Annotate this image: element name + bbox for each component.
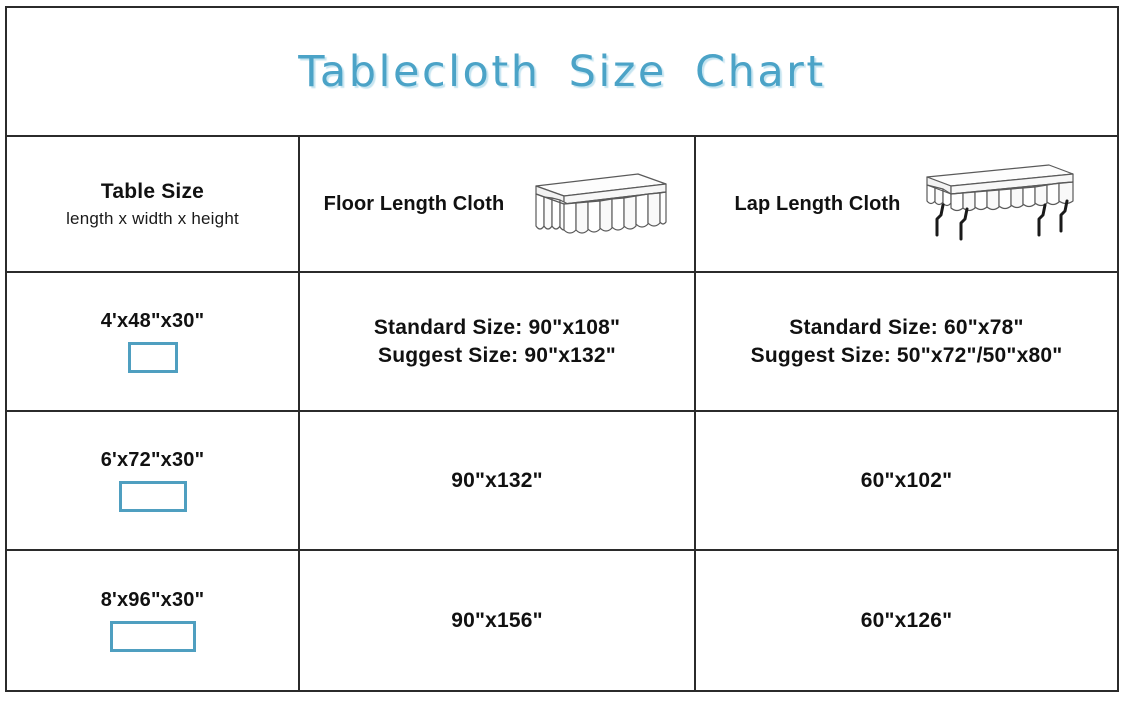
lap-suggest-size: Suggest Size: 50"x72"/50"x80" <box>751 342 1063 370</box>
floor-length-sizes: Standard Size: 90"x108" Suggest Size: 90… <box>374 314 620 369</box>
cell-table-size: 6'x72"x30" <box>7 412 300 549</box>
size-table: Table Size length x width x height Floor… <box>7 137 1117 690</box>
cell-lap-length: 60"x126" <box>696 551 1117 690</box>
floor-length-size: 90"x156" <box>451 609 543 633</box>
table-size-value: 6'x72"x30" <box>101 449 205 472</box>
cell-floor-length: 90"x156" <box>300 551 696 690</box>
header-cell-floor-length: Floor Length Cloth <box>300 137 696 271</box>
table-footprint-rectangle <box>119 481 187 512</box>
floor-length-size: 90"x132" <box>451 469 543 493</box>
lap-length-label: Lap Length Cloth <box>734 193 900 216</box>
title-band: Tablecloth Size Chart <box>7 8 1117 137</box>
table-row: 4'x48"x30" Standard Size: 90"x108" Sugge… <box>7 273 1117 412</box>
floor-length-table-icon <box>510 168 670 240</box>
lap-length-heading: Lap Length Cloth <box>702 161 1111 247</box>
floor-standard-size: Standard Size: 90"x108" <box>374 314 620 342</box>
lap-length-sizes: Standard Size: 60"x78" Suggest Size: 50"… <box>751 314 1063 369</box>
cell-table-size: 8'x96"x30" <box>7 551 300 690</box>
table-size-subtitle: length x width x height <box>66 208 239 229</box>
lap-length-size: 60"x102" <box>861 469 953 493</box>
table-size-heading: Table Size length x width x height <box>66 179 239 229</box>
table-header-row: Table Size length x width x height Floor… <box>7 137 1117 273</box>
cell-floor-length: 90"x132" <box>300 412 696 549</box>
lap-length-size: 60"x126" <box>861 609 953 633</box>
cell-lap-length: 60"x102" <box>696 412 1117 549</box>
table-footprint-rectangle <box>110 621 196 652</box>
table-size-title: Table Size <box>101 179 204 205</box>
table-footprint-rectangle <box>128 342 178 373</box>
floor-length-label: Floor Length Cloth <box>324 193 505 216</box>
floor-length-heading: Floor Length Cloth <box>306 168 688 240</box>
table-size-with-footprint: 4'x48"x30" <box>101 310 205 373</box>
cell-lap-length: Standard Size: 60"x78" Suggest Size: 50"… <box>696 273 1117 410</box>
table-size-with-footprint: 6'x72"x30" <box>101 449 205 512</box>
header-cell-table-size: Table Size length x width x height <box>7 137 300 271</box>
table-row: 6'x72"x30" 90"x132" 60"x102" <box>7 412 1117 551</box>
table-size-value: 8'x96"x30" <box>101 589 205 612</box>
header-cell-lap-length: Lap Length Cloth <box>696 137 1117 271</box>
page-title: Tablecloth Size Chart <box>298 47 825 97</box>
table-row: 8'x96"x30" 90"x156" 60"x126" <box>7 551 1117 690</box>
lap-length-table-icon <box>907 161 1079 247</box>
table-size-value: 4'x48"x30" <box>101 310 205 333</box>
floor-suggest-size: Suggest Size: 90"x132" <box>378 342 616 370</box>
lap-standard-size: Standard Size: 60"x78" <box>789 314 1023 342</box>
chart-frame: Tablecloth Size Chart Table Size length … <box>5 6 1119 692</box>
cell-floor-length: Standard Size: 90"x108" Suggest Size: 90… <box>300 273 696 410</box>
tablecloth-size-chart-page: Tablecloth Size Chart Table Size length … <box>0 0 1125 701</box>
cell-table-size: 4'x48"x30" <box>7 273 300 410</box>
table-size-with-footprint: 8'x96"x30" <box>101 589 205 652</box>
